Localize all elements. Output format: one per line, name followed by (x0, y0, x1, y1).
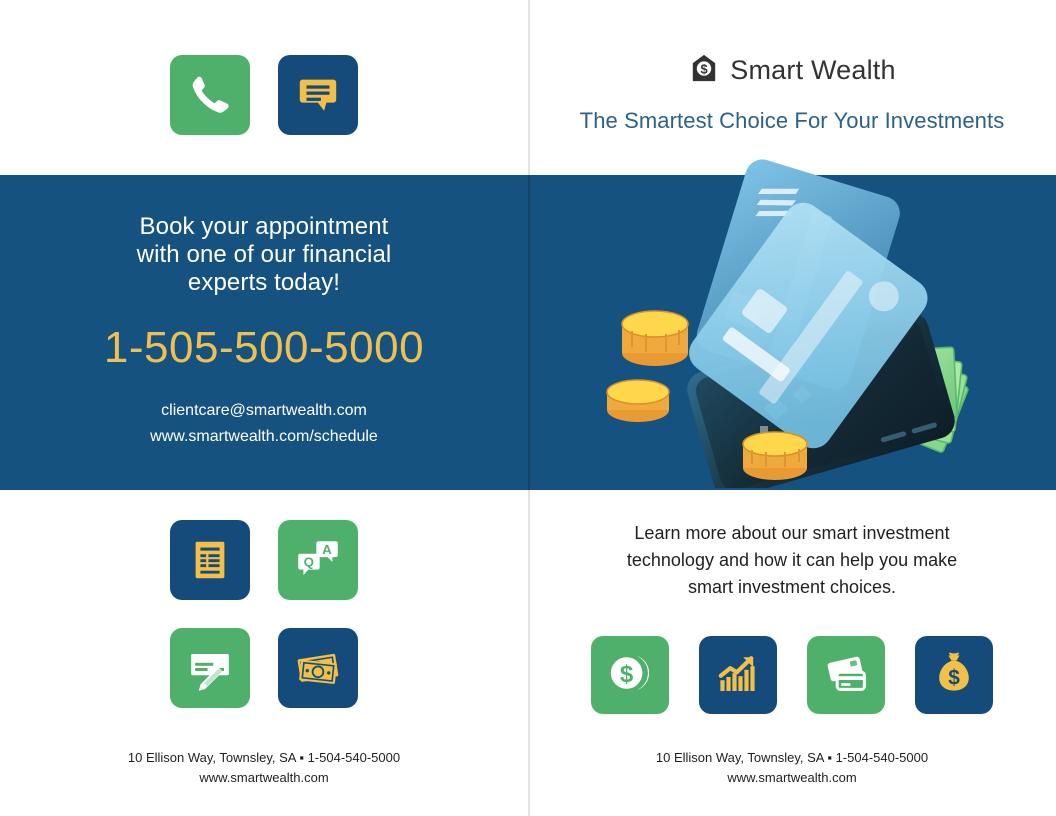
phone-number[interactable]: 1-505-500-5000 (104, 326, 424, 370)
panel-divider-band (528, 175, 530, 490)
service-icon-row-1: A Q (170, 520, 358, 600)
email-link[interactable]: clientcare@smartwealth.com (150, 398, 378, 424)
banknotes-icon-tile[interactable] (278, 628, 358, 708)
left-footer-website: www.smartwealth.com (0, 768, 528, 788)
chat-icon-tile[interactable] (278, 55, 358, 135)
left-footer-address: 10 Ellison Way, Townsley, SA ▪ 1-504-540… (0, 748, 528, 768)
headline-line-1: Book your appointment (137, 213, 392, 241)
cheque-icon-tile[interactable] (170, 628, 250, 708)
contact-details: clientcare@smartwealth.com www.smartweal… (150, 398, 378, 449)
left-panel: Book your appointment with one of our fi… (0, 0, 528, 816)
brochure-page: Book your appointment with one of our fi… (0, 0, 1056, 816)
invoice-icon-tile[interactable] (170, 520, 250, 600)
mobile-payment-illustration (600, 148, 1000, 488)
headline-line-3: experts today! (137, 269, 392, 297)
contact-icon-row (0, 55, 528, 135)
service-icon-grid: A Q (0, 520, 528, 708)
schedule-link[interactable]: www.smartwealth.com/schedule (150, 424, 378, 450)
service-icon-row-2 (170, 628, 358, 708)
phone-icon-tile[interactable] (170, 55, 250, 135)
svg-text:A: A (322, 542, 332, 557)
appointment-block: Book your appointment with one of our fi… (0, 175, 528, 490)
cheque-sign-icon (186, 644, 234, 692)
headline-line-2: with one of our financial (137, 241, 392, 269)
qa-icon-tile[interactable]: A Q (278, 520, 358, 600)
chat-bubble-icon (295, 72, 341, 118)
svg-text:Q: Q (304, 555, 314, 570)
banknotes-icon (294, 644, 342, 692)
left-footer: 10 Ellison Way, Townsley, SA ▪ 1-504-540… (0, 748, 528, 788)
invoice-document-icon (187, 537, 233, 583)
appointment-headline: Book your appointment with one of our fi… (137, 213, 392, 296)
phone-icon (187, 72, 233, 118)
question-answer-icon: A Q (293, 535, 343, 585)
